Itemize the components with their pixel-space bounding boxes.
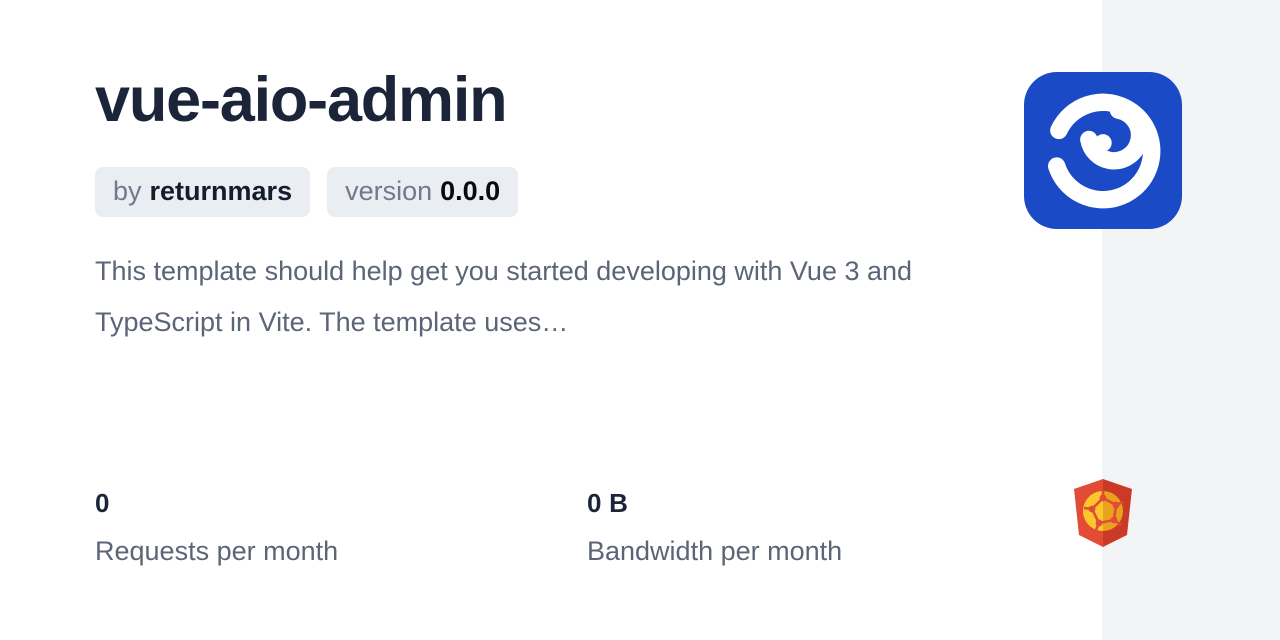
- stat-bandwidth-label: Bandwidth per month: [587, 535, 1079, 567]
- stats-row: 0 Requests per month 0 B Bandwidth per m…: [95, 487, 1079, 567]
- stat-bandwidth-value: 0 B: [587, 487, 1079, 519]
- author-badge-prefix: by: [113, 176, 142, 206]
- author-badge-name: returnmars: [150, 176, 293, 206]
- version-badge[interactable]: version 0.0.0: [327, 167, 518, 217]
- stat-requests-label: Requests per month: [95, 535, 587, 567]
- meta-badge-row: by returnmars version 0.0.0: [95, 167, 518, 217]
- stat-bandwidth: 0 B Bandwidth per month: [587, 487, 1079, 567]
- stat-requests-value: 0: [95, 487, 587, 519]
- jsdelivr-logo-icon: [1024, 72, 1182, 229]
- package-info-column: vue-aio-admin by returnmars version 0.0.…: [95, 0, 975, 640]
- stat-requests: 0 Requests per month: [95, 487, 587, 567]
- package-title: vue-aio-admin: [95, 62, 506, 138]
- package-description: This template should help get you starte…: [95, 246, 915, 348]
- author-badge[interactable]: by returnmars: [95, 167, 310, 217]
- version-badge-prefix: version: [345, 176, 432, 206]
- version-badge-number: 0.0.0: [440, 176, 500, 206]
- javascript-package-shield-icon: [1072, 478, 1134, 548]
- package-card: vue-aio-admin by returnmars version 0.0.…: [0, 0, 1280, 640]
